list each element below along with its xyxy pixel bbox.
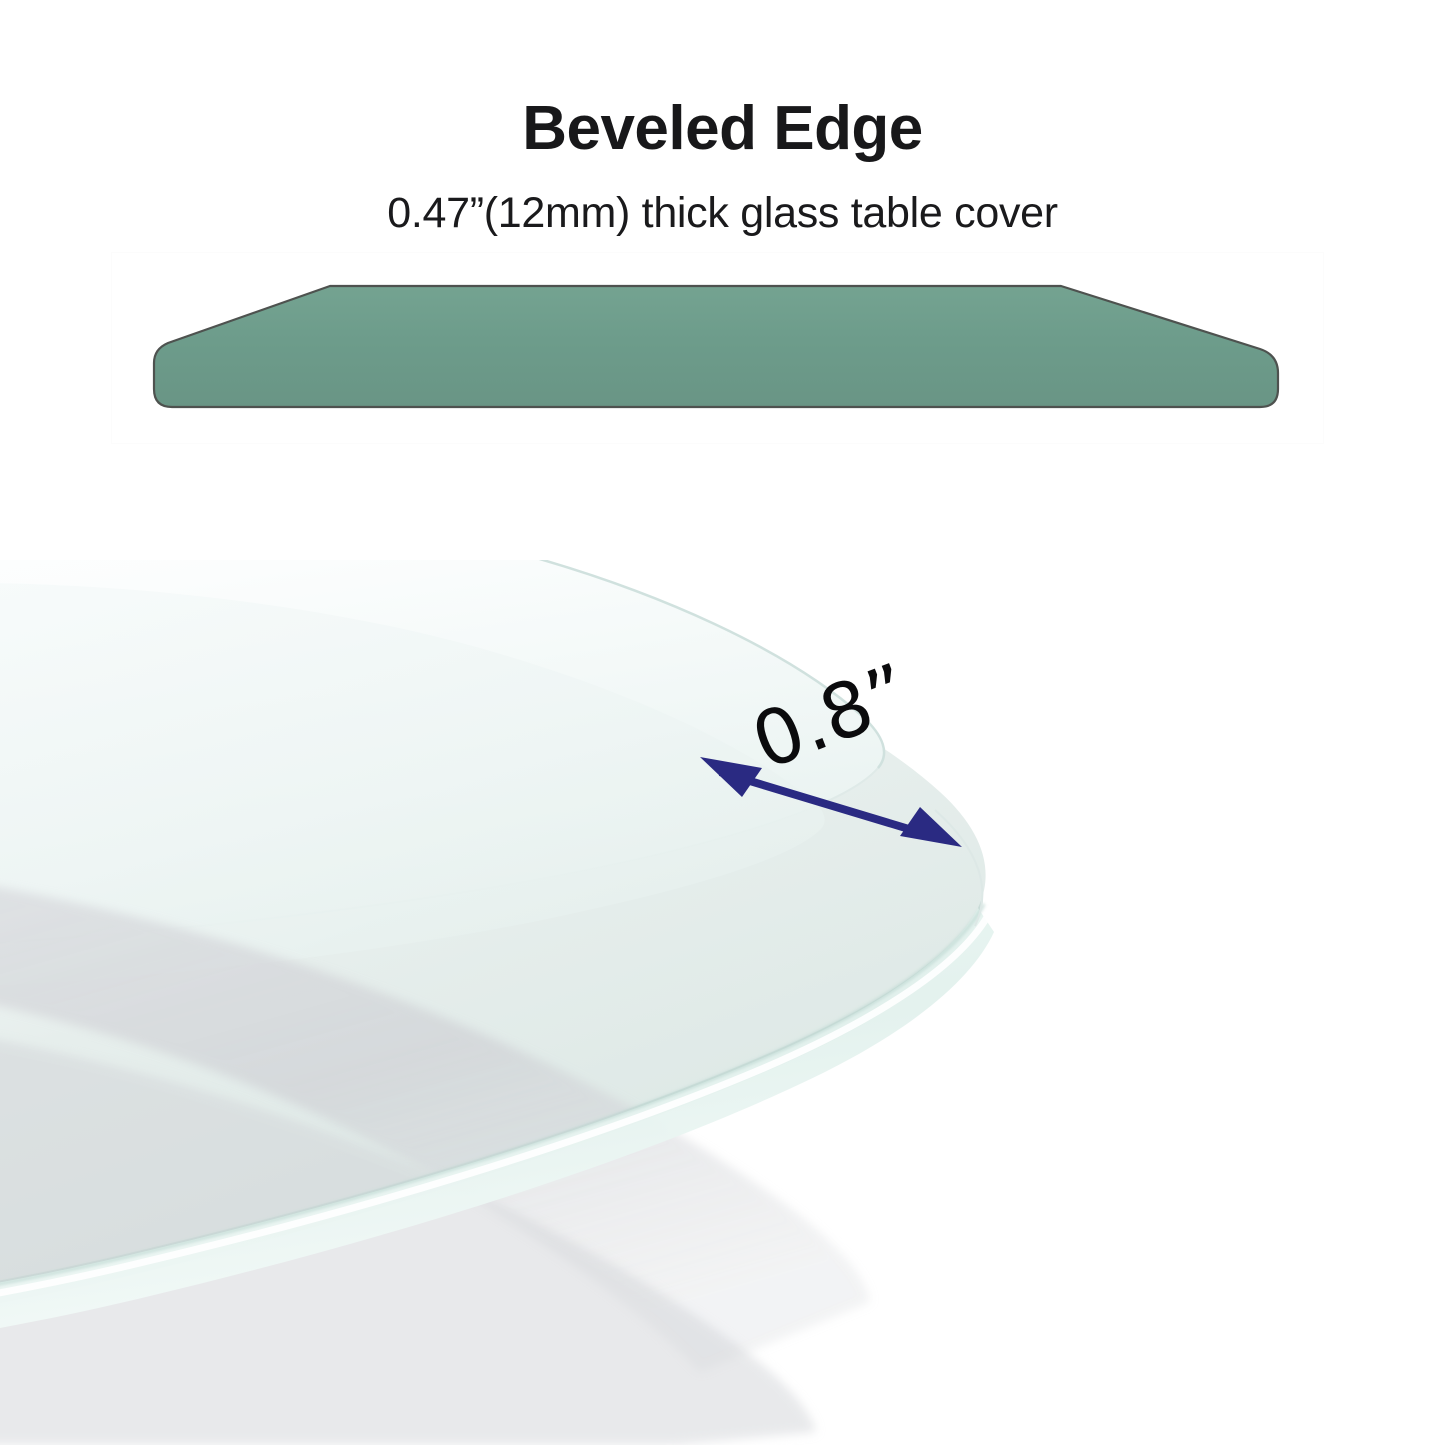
glass-slab-profile-shape (154, 286, 1278, 407)
infographic-canvas: Beveled Edge 0.47”(12mm) thick glass tab… (0, 0, 1445, 1445)
beveled-edge-cross-section-diagram (112, 253, 1323, 443)
page-title: Beveled Edge (0, 98, 1445, 160)
page-subtitle: 0.47”(12mm) thick glass table cover (0, 192, 1445, 235)
